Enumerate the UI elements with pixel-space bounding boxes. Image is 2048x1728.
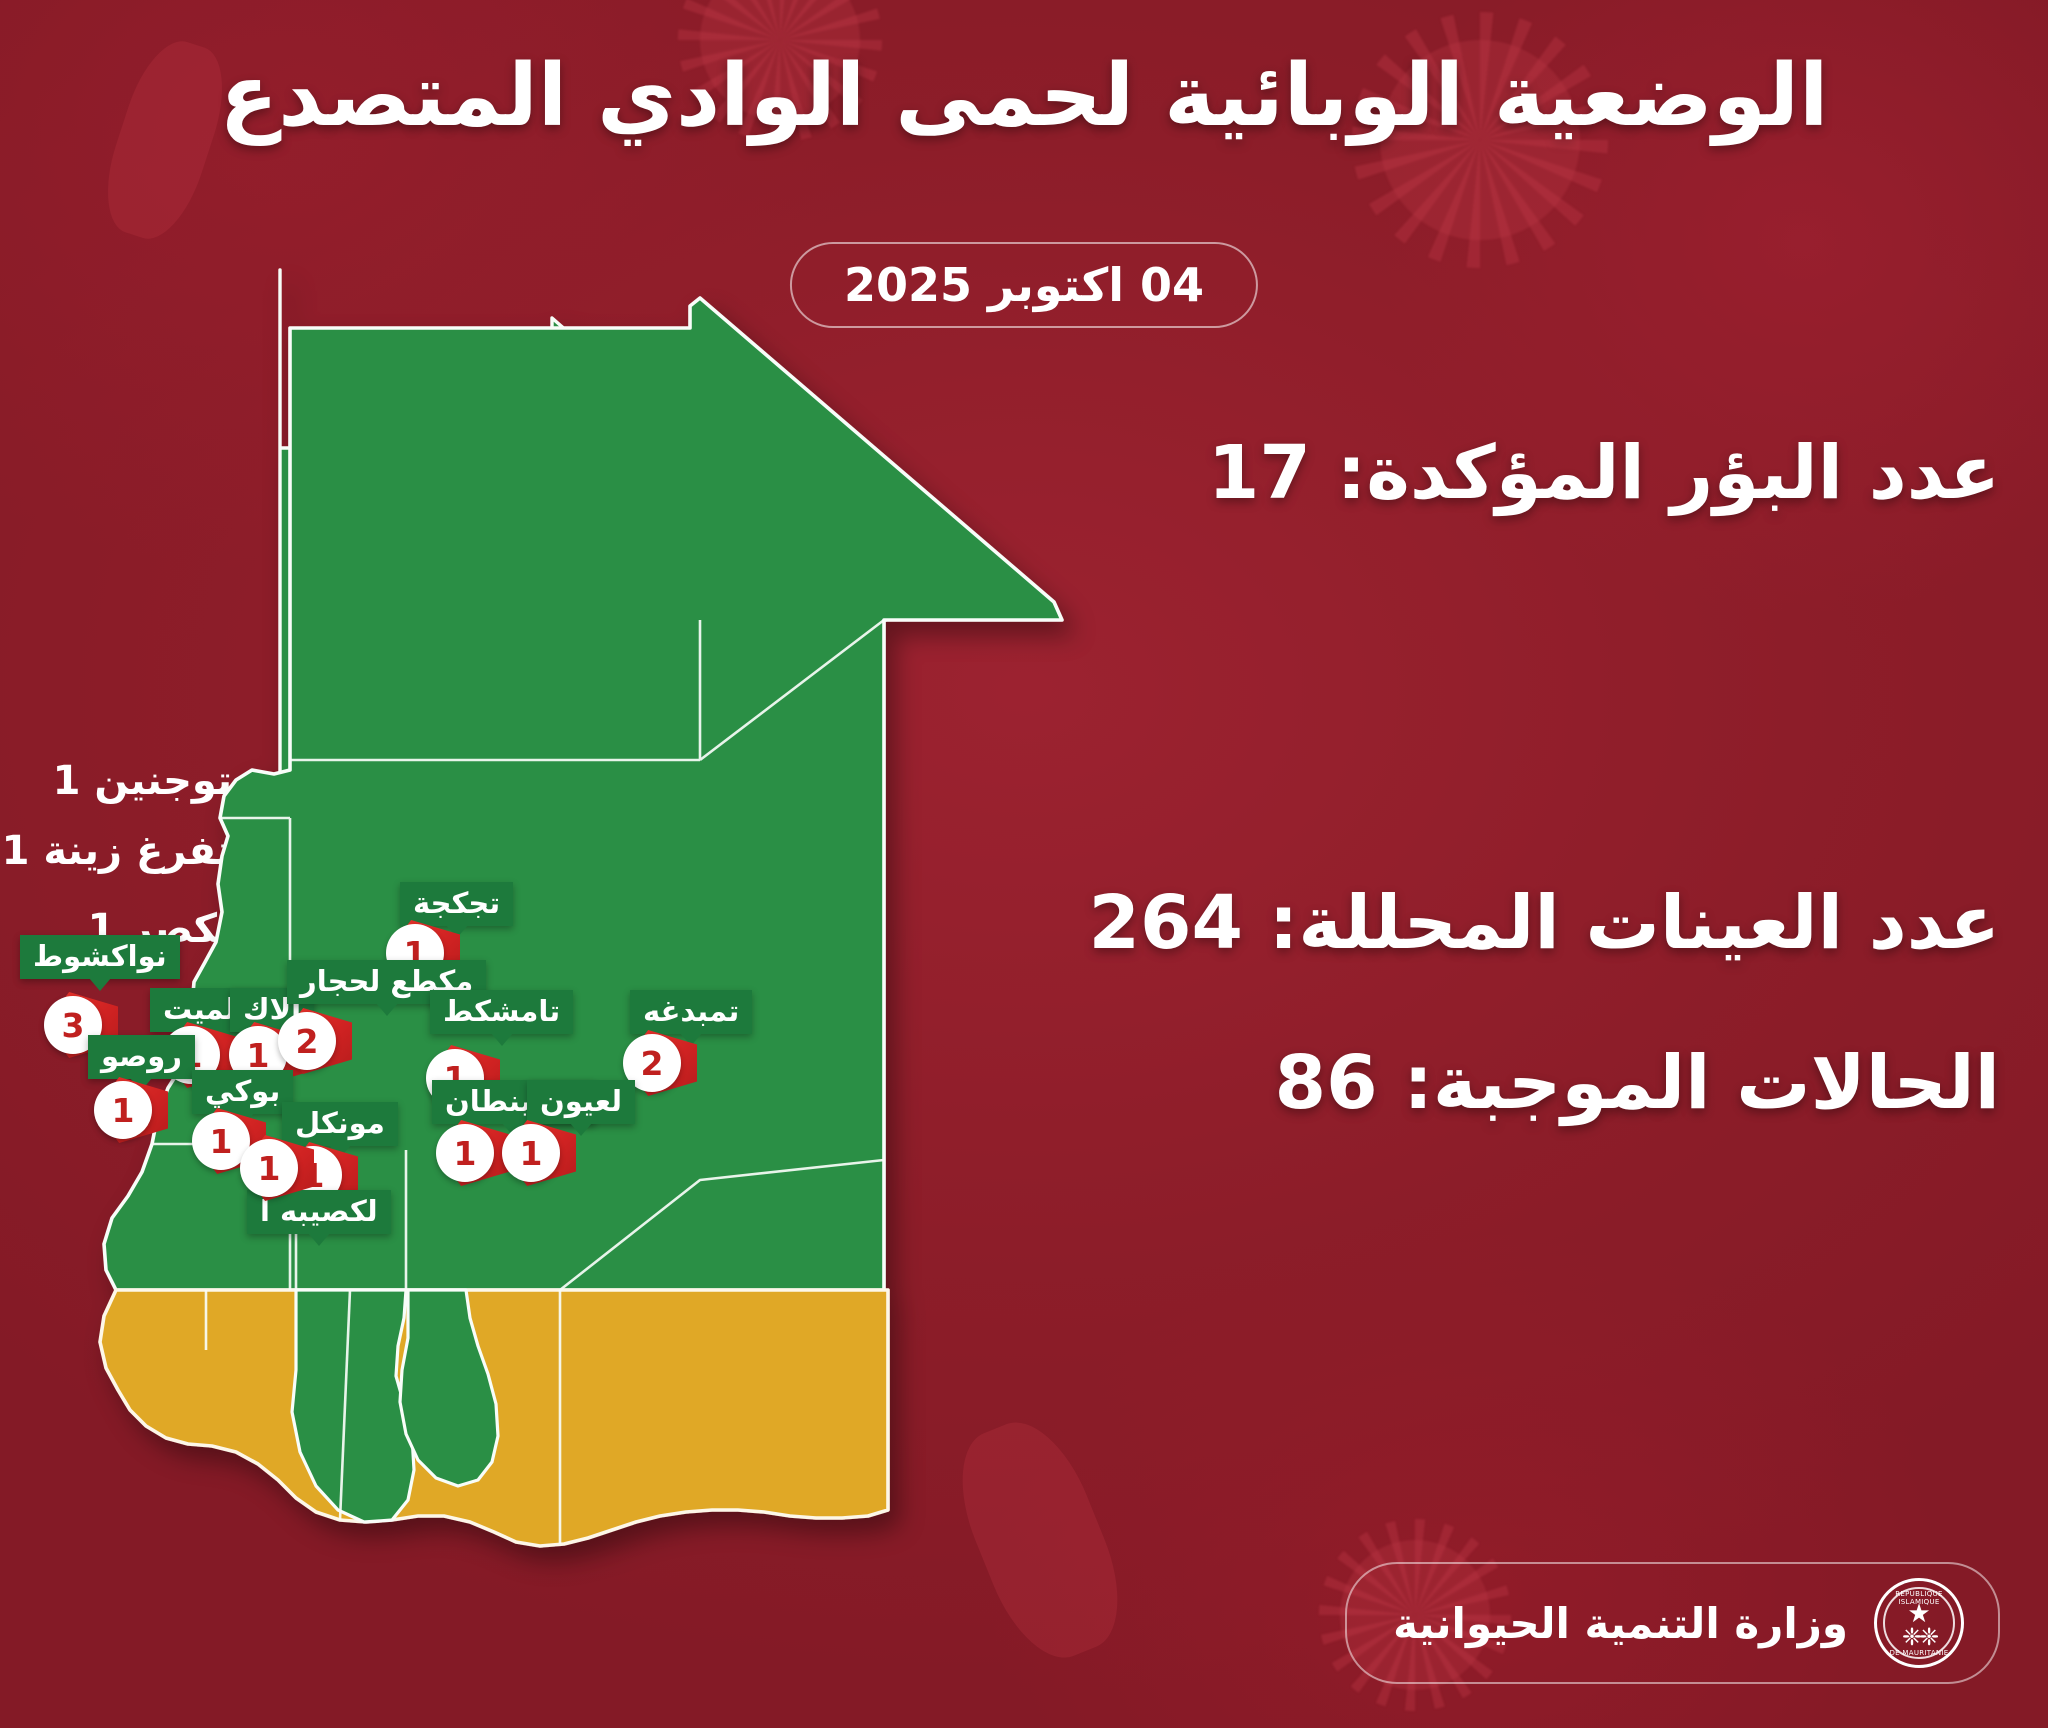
ministry-name: وزارة التنمية الحيوانية <box>1393 1599 1848 1648</box>
ministry-footer: وزارة التنمية الحيوانية REPUBLIQUE ISLAM… <box>1345 1562 2000 1684</box>
map-label: مونكل <box>282 1102 398 1146</box>
emblem-bottom-text: DE MAURITANIE <box>1877 1649 1961 1657</box>
marker-count-badge: 1 <box>502 1124 560 1182</box>
map-label: تامشكط <box>430 990 573 1034</box>
stat-analyzed-samples: عدد العينات المحللة: 264 <box>1089 880 2001 966</box>
map-label: نواكشوط <box>20 935 180 979</box>
stat-confirmed-foci: عدد البؤر المؤكدة: 17 <box>1208 430 2000 516</box>
ministry-emblem-icon: REPUBLIQUE ISLAMIQUE ★ ❈❈ DE MAURITANIE <box>1874 1578 1964 1668</box>
map-label: تجكجة <box>400 882 513 926</box>
map-label: روصو <box>88 1035 195 1079</box>
map-label: لعيون <box>527 1080 635 1124</box>
marker-count-badge: 2 <box>278 1012 336 1070</box>
emblem-sprig-icon: ❈❈ <box>1902 1625 1936 1649</box>
date-badge: 04 اكتوبر 2025 <box>790 242 1258 328</box>
marker-count-badge: 1 <box>436 1124 494 1182</box>
map-label: تمبدغه <box>630 990 752 1034</box>
stat-positive-cases: الحالات الموجبة: 86 <box>1275 1040 2000 1126</box>
marker-count-badge: 1 <box>240 1139 298 1197</box>
mauritania-map: تجكجة1نواكشوط3بوتلميت1ألاك1مكطع لحجار2تا… <box>0 390 1120 1660</box>
page-title: الوضعية الوبائية لحمى الوادي المتصدع <box>0 46 2048 146</box>
poster-canvas: الوضعية الوبائية لحمى الوادي المتصدع 04 … <box>0 0 2048 1728</box>
map-label: بوكي <box>192 1070 293 1114</box>
marker-count-badge: 1 <box>94 1081 152 1139</box>
